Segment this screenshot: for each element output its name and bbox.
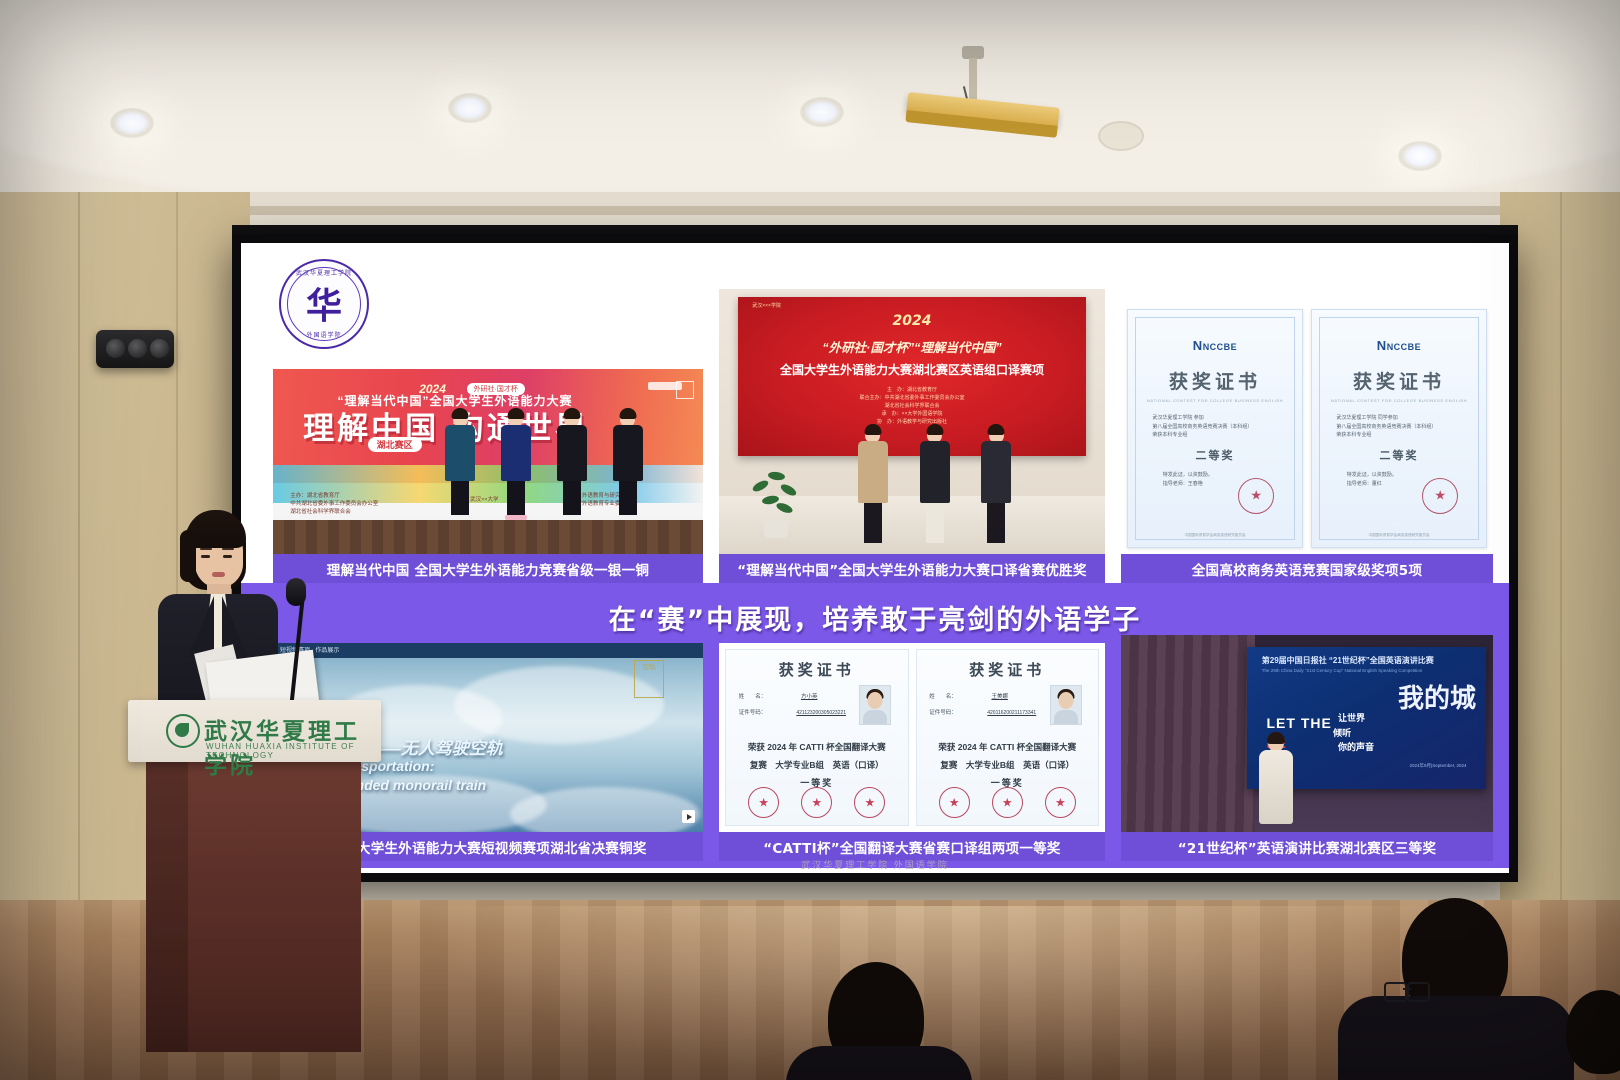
- catti-certificate: 获奖证书 姓 名：方小英 证件号码：421123200305023221 荣获 …: [725, 649, 909, 826]
- play-icon[interactable]: [682, 810, 695, 823]
- led-sub: 主 办：湖北省教育厅 联合主办：中共湖北省委外事工作委员会办公室 湖北省社会科学…: [738, 386, 1085, 426]
- certificate-issuer: 中国国际贸易学会商务英语研究委员会: [1128, 533, 1302, 538]
- certificate-title: 获奖证书: [917, 659, 1099, 680]
- ceiling-downlight: [448, 93, 492, 123]
- red-seal-icon: [801, 787, 832, 818]
- led-year: 2024: [738, 313, 1085, 329]
- student-figure: [445, 410, 475, 520]
- certificate: NNCCBE 获奖证书 NATIONAL CONTEST FOR COLLEGE…: [1127, 309, 1303, 548]
- certificate-body: 武汉华夏理工学院 同学参加 第八届全国高校商务英语竞赛决赛（本科组） 荣获本科专…: [1336, 414, 1436, 440]
- speech-contest-photo: 第29届中国日报社 “21世纪杯”全国英语演讲比赛 The 29th China…: [1121, 635, 1493, 832]
- slide-card-catti: 获奖证书 姓 名：方小英 证件号码：421123200305023221 荣获 …: [719, 643, 1105, 861]
- ceiling-downlight: [800, 97, 844, 127]
- certificate-title: 获奖证书: [726, 659, 908, 680]
- slide-card-speech-21century: 第29届中国日报社 “21世纪杯”全国英语演讲比赛 The 29th China…: [1121, 635, 1493, 861]
- banner-fine-left: 主办：湖北省教育厅 中共湖北省委外事工作委员会办公室 湖北省社会科学界联合会: [290, 493, 378, 517]
- led-line2: 全国大学生外语能力大赛湖北赛区英语组口译赛项: [738, 361, 1085, 378]
- presenter-hair: [186, 510, 246, 548]
- led-date: 2024年9月|September, 2024: [1410, 763, 1467, 769]
- catti-certificate: 获奖证书 姓 名：王美娜 证件号码：420116200211173341 荣获 …: [916, 649, 1100, 826]
- red-seal-icon: [939, 787, 970, 818]
- slide-card-business-english: NNCCBE 获奖证书 NATIONAL CONTEST FOR COLLEGE…: [1121, 303, 1493, 583]
- wall-speaker: [96, 330, 174, 368]
- three-students-photo: 武汉×××学院 2024 “外研社·国才杯”“理解当代中国” 全国大学生外语能力…: [719, 289, 1105, 554]
- certificate-portrait: [1050, 685, 1082, 725]
- certificate: NNCCBE 获奖证书 NATIONAL CONTEST FOR COLLEGE…: [1311, 309, 1487, 548]
- led-header: 武汉×××学院: [752, 302, 781, 309]
- speaker-figure: [1259, 734, 1293, 824]
- certificate-award-line: 荣获 2024 年 CATTI 杯全国翻译大赛: [726, 741, 908, 753]
- led-cn-1: 让世界: [1338, 711, 1365, 724]
- led-cn-2: 倾听: [1333, 726, 1351, 739]
- certificate-brand: NNCCBE: [1128, 338, 1302, 353]
- red-seal-icon: [1045, 787, 1076, 818]
- banner-location: 湖北赛区: [368, 437, 422, 452]
- seal-stamp-icon: 空轨: [634, 660, 664, 698]
- student-figure: [613, 410, 643, 520]
- certificate-english-line: NATIONAL CONTEST FOR COLLEGE BUSINESS EN…: [1312, 398, 1486, 403]
- catti-certificates: 获奖证书 姓 名：方小英 证件号码：421123200305023221 荣获 …: [719, 643, 1105, 832]
- certificate-prize: 二等奖: [1312, 447, 1486, 463]
- certificate-title: 获奖证书: [1128, 367, 1302, 394]
- audience-shoulders: [786, 1046, 972, 1080]
- student-figure: [557, 410, 587, 520]
- podium-microphone-icon: [286, 578, 306, 606]
- student-figure: [981, 426, 1011, 543]
- led-title-cn: 第29届中国日报社 “21世纪杯”全国英语演讲比赛: [1262, 655, 1434, 666]
- university-logo-icon: [166, 714, 200, 748]
- lectern-institution-en: WUHAN HUAXIA INSTITUTE OF TECHNOLOGY: [206, 742, 381, 760]
- led-title-en: The 29th China Daily "21st Century Cup" …: [1262, 668, 1423, 673]
- slide-footer: 武汉华夏理工学院 外国语学院: [241, 858, 1509, 871]
- red-seal-icon: [854, 787, 885, 818]
- certificate-portrait: [859, 685, 891, 725]
- certificate-name-field: 姓 名：方小英: [739, 692, 853, 700]
- lecture-hall-scene: 武汉华夏理工学院 华 外国语学院 2024 外研社·国才杯 “理解当代中国”全国…: [0, 0, 1620, 1080]
- ceiling-recessed-fixture: [1098, 121, 1144, 151]
- lectern: 武汉华夏理工学院 WUHAN HUAXIA INSTITUTE OF TECHN…: [128, 700, 381, 1052]
- student-figure: [501, 410, 531, 520]
- video-topbar: 短视频赛项 · 作品展示: [273, 643, 703, 658]
- audience-shoulders: [1338, 996, 1574, 1080]
- led-let-text: LET THE: [1267, 715, 1332, 731]
- certificate-brand: NNCCBE: [1312, 338, 1486, 353]
- stage-curtain: [1121, 635, 1255, 832]
- card-caption: “21世纪杯”英语演讲比赛湖北赛区三等奖: [1121, 832, 1493, 861]
- card-caption: “CATTI杯”全国翻译大赛省赛口译组两项一等奖: [719, 832, 1105, 861]
- ceiling-downlight: [1398, 141, 1442, 171]
- potted-plant: [750, 466, 802, 538]
- led-big-cn: 我的城: [1398, 678, 1476, 715]
- seal-row: [726, 787, 908, 818]
- ceiling: [0, 0, 1620, 196]
- certificate-award-line: 荣获 2024 年 CATTI 杯全国翻译大赛: [917, 741, 1099, 753]
- projection-screen: 武汉华夏理工学院 华 外国语学院 2024 外研社·国才杯 “理解当代中国”全国…: [232, 234, 1518, 882]
- ceiling-downlight: [110, 108, 154, 138]
- certificate-body: 武汉华夏理工学院 参加 第八届全国高校商务英语竞赛决赛（本科组） 荣获本科专业组: [1152, 414, 1252, 440]
- business-english-certificates: NNCCBE 获奖证书 NATIONAL CONTEST FOR COLLEGE…: [1121, 303, 1493, 554]
- seal-row: [917, 787, 1099, 818]
- certificate-name-field: 姓 名：王美娜: [929, 692, 1043, 700]
- certificate-issuer: 中国国际贸易学会商务英语研究委员会: [1312, 533, 1486, 538]
- sponsor-mark-icon: [676, 381, 694, 399]
- led-cn-3: 你的声音: [1338, 740, 1374, 753]
- red-seal-icon: [748, 787, 779, 818]
- wooden-deck: [273, 520, 703, 555]
- certificate-fields: 特发此证，以资鼓励。 指导老师：王春艳: [1163, 471, 1213, 488]
- red-seal-icon: [1238, 478, 1274, 514]
- group-photo-red-banner: 2024 外研社·国才杯 “理解当代中国”全国大学生外语能力大赛 理解中国 沟通…: [273, 351, 703, 554]
- university-crest-icon: 武汉华夏理工学院 华 外国语学院: [279, 259, 369, 349]
- slide-band-title: 在“赛”中展现，培养敢于亮剑的外语学子: [241, 598, 1509, 637]
- crest-glyph: 华: [306, 277, 342, 329]
- crest-top-text: 武汉华夏理工学院: [281, 268, 367, 277]
- crest-bottom-text: 外国语学院: [281, 330, 367, 339]
- card-caption: 理解当代中国 全国大学生外语能力竞赛省级一银一铜: [273, 554, 703, 583]
- card-caption: 全国高校商务英语竞赛国家级奖项5项: [1121, 554, 1493, 583]
- certificate-prize: 二等奖: [1128, 447, 1302, 463]
- certificate-category-line: 复赛 大学专业B组 英语（口译）: [726, 759, 908, 771]
- certificate-title: 获奖证书: [1312, 367, 1486, 394]
- red-seal-icon: [992, 787, 1023, 818]
- wall-seam: [1560, 192, 1562, 962]
- lectern-nameplate: 武汉华夏理工学院 WUHAN HUAXIA INSTITUTE OF TECHN…: [128, 700, 381, 762]
- certificate-fields: 特发此证，以资鼓励。 指导老师：董红: [1347, 471, 1397, 488]
- presentation-slide: 武汉华夏理工学院 华 外国语学院 2024 外研社·国才杯 “理解当代中国”全国…: [241, 243, 1509, 873]
- student-figure: [858, 426, 888, 543]
- slide-card-understanding-china: 2024 外研社·国才杯 “理解当代中国”全国大学生外语能力大赛 理解中国 沟通…: [273, 351, 703, 583]
- student-figure: [920, 426, 950, 543]
- eyeglasses-icon: [1384, 982, 1430, 998]
- card-caption: “理解当代中国”全国大学生外语能力大赛口译省赛优胜奖: [719, 554, 1105, 583]
- certificate-id-field: 证件号码：420116200211173341: [929, 708, 1067, 716]
- certificate-id-field: 证件号码：421123200305023221: [739, 708, 877, 716]
- certificate-category-line: 复赛 大学专业B组 英语（口译）: [917, 759, 1099, 771]
- wall-seam: [78, 192, 80, 962]
- slide-card-interpretation-award: 武汉×××学院 2024 “外研社·国才杯”“理解当代中国” 全国大学生外语能力…: [719, 289, 1105, 583]
- certificate-english-line: NATIONAL CONTEST FOR COLLEGE BUSINESS EN…: [1128, 398, 1302, 403]
- led-line1: “外研社·国才杯”“理解当代中国”: [738, 337, 1085, 356]
- red-seal-icon: [1422, 478, 1458, 514]
